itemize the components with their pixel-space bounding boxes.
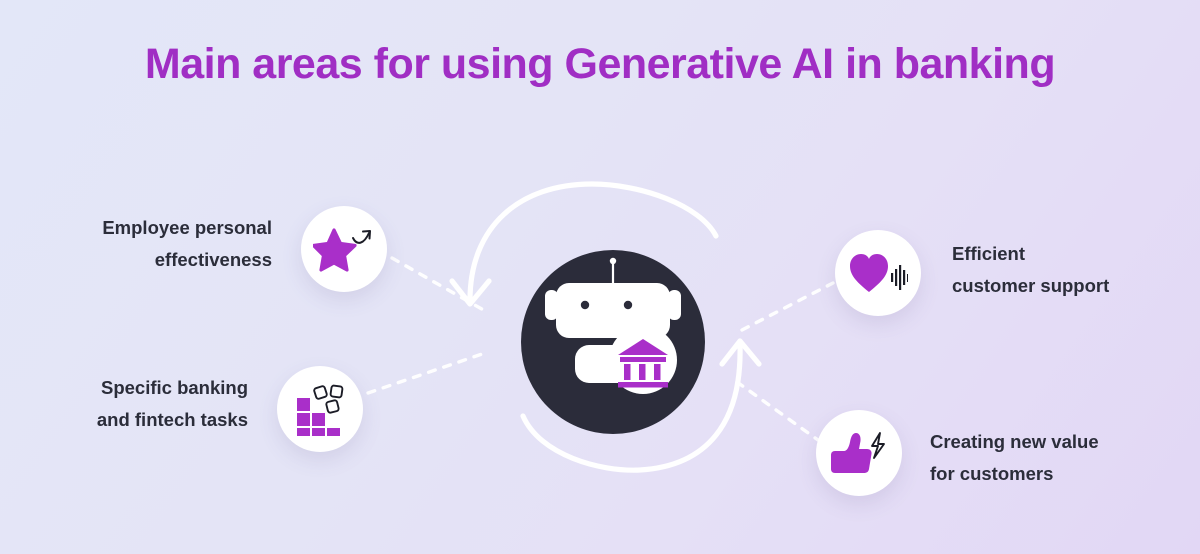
icon-bubble-creating[interactable] <box>816 410 902 496</box>
label-line-1: Employee personal <box>40 212 272 244</box>
label-efficient-customer-support: Efficient customer support <box>952 238 1182 302</box>
blocks-icon <box>291 382 349 436</box>
label-line-1: Creating new value <box>930 426 1180 458</box>
icon-bubble-specific[interactable] <box>277 366 363 452</box>
label-line-2: for customers <box>930 458 1180 490</box>
thumbs-up-lightning-icon <box>829 427 889 479</box>
label-creating-new-value-for-customers: Creating new value for customers <box>930 426 1180 490</box>
star-rising-arrow-icon <box>313 220 375 278</box>
label-line-2: effectiveness <box>40 244 272 276</box>
label-specific-banking-and-fintech-tasks: Specific banking and fintech tasks <box>40 372 248 436</box>
icon-bubble-employee[interactable] <box>301 206 387 292</box>
label-line-2: and fintech tasks <box>40 404 248 436</box>
label-line-1: Specific banking <box>40 372 248 404</box>
label-line-2: customer support <box>952 270 1182 302</box>
icon-bubble-efficient[interactable] <box>835 230 921 316</box>
diagram-stage: Employee personal effectiveness Specific… <box>0 0 1200 554</box>
label-line-1: Efficient <box>952 238 1182 270</box>
heart-waveform-icon <box>848 248 908 298</box>
label-employee-personal-effectiveness: Employee personal effectiveness <box>40 212 272 276</box>
